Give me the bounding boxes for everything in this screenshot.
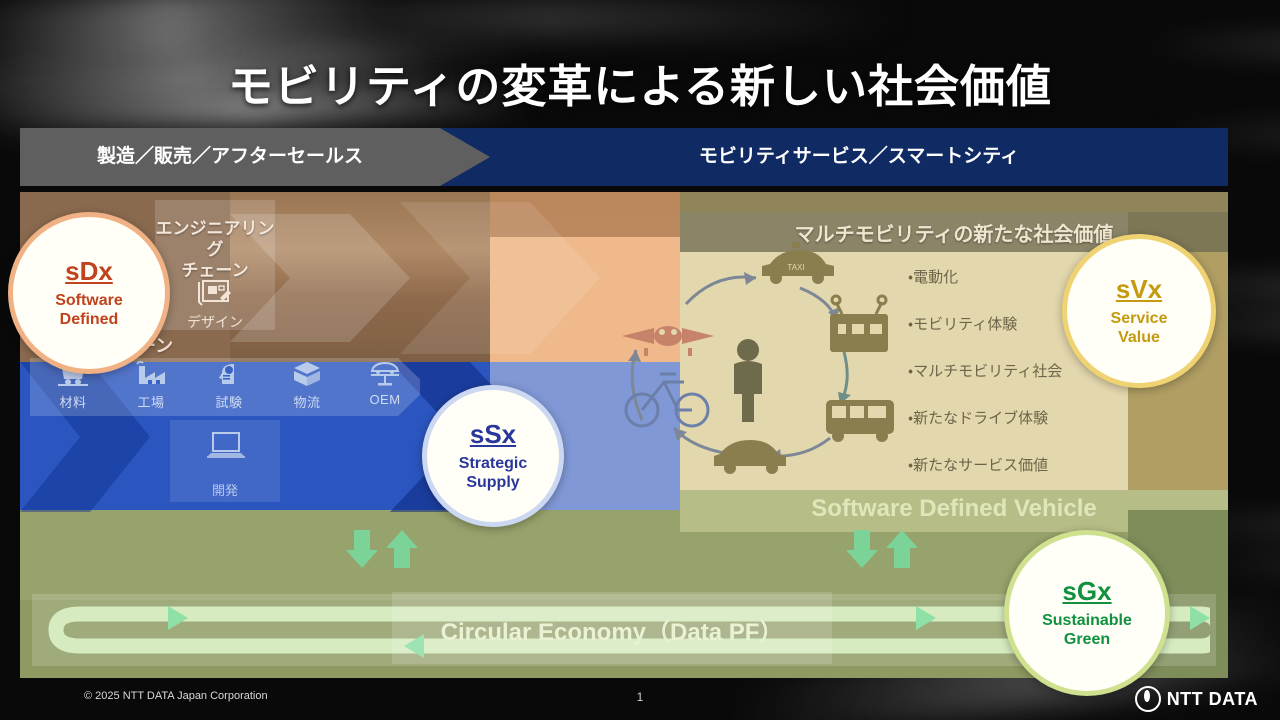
supply-chain-label: 物流	[268, 392, 346, 411]
slide: モビリティの変革による新しい社会価値 製造／販売／アフターセールス モビリティサ…	[0, 0, 1280, 720]
supply-chain-item-factory: 工場	[112, 360, 190, 411]
supply-chain-item-test: 試験	[190, 360, 268, 411]
footer: © 2025 NTT DATA Japan Corporation 1 NTT …	[0, 678, 1280, 720]
supply-chain-label: 材料	[34, 392, 112, 411]
circle-sdx[interactable]: sDx Software Defined	[8, 212, 170, 374]
circle-sdx-code: sDx	[65, 257, 113, 286]
mobility-cycle-diagram: TAXI	[620, 232, 940, 492]
circle-sdx-sub2: Defined	[60, 310, 119, 329]
tram-icon	[830, 296, 888, 352]
blueprint-icon	[198, 278, 232, 308]
supply-chain-label: 工場	[112, 392, 190, 411]
circle-sgx-code: sGx	[1062, 577, 1111, 606]
bus-icon	[826, 400, 894, 442]
list-item: ・新たなドライブ体験	[908, 407, 1138, 428]
package-icon	[268, 360, 346, 390]
circle-ssx-code: sSx	[470, 420, 516, 449]
engineering-chain-item-caption: デザイン	[148, 312, 282, 332]
laptop-icon	[205, 430, 247, 464]
circle-svx-sub1: Service	[1111, 309, 1168, 328]
circle-ssx-sub2: Supply	[466, 473, 519, 492]
exchange-arrows-left-icon	[342, 530, 422, 570]
development-label: 開発	[170, 480, 280, 499]
supply-chain-item-oem: OEM	[346, 360, 424, 407]
banner-label-manufacturing: 製造／販売／アフターセールス	[20, 128, 440, 186]
circular-economy-label: Circular Economy（Data PF）	[392, 612, 832, 647]
circle-sgx-sub2: Green	[1064, 630, 1110, 649]
ntt-data-logo: NTT DATA	[1135, 686, 1258, 712]
supply-chain-label: 試験	[190, 392, 268, 411]
page-number: 1	[0, 690, 1280, 704]
circle-svx-sub2: Value	[1118, 328, 1160, 347]
car-icon	[714, 440, 786, 474]
circle-svx[interactable]: sVx Service Value	[1062, 234, 1216, 388]
svg-text:TAXI: TAXI	[787, 263, 804, 272]
phase-banner: 製造／販売／アフターセールス モビリティサービス／スマートシティ	[20, 128, 1228, 186]
circle-sgx-sub1: Sustainable	[1042, 611, 1132, 630]
engineering-chain-title-l1: エンジニアリング	[156, 219, 275, 259]
bicycle-icon	[626, 374, 708, 426]
circle-svx-code: sVx	[1116, 275, 1162, 304]
page-title: モビリティの変革による新しい社会価値	[0, 50, 1280, 115]
exchange-arrows-right-icon	[842, 530, 922, 570]
circle-ssx[interactable]: sSx Strategic Supply	[422, 385, 564, 527]
circle-sgx[interactable]: sGx Sustainable Green	[1004, 530, 1170, 696]
banner-label-mobility-service: モビリティサービス／スマートシティ	[490, 128, 1228, 186]
list-item: ・新たなサービス価値	[908, 454, 1138, 475]
engineering-chevron-icon	[230, 192, 680, 364]
software-defined-vehicle-label: Software Defined Vehicle	[680, 495, 1228, 523]
circle-sdx-sub1: Software	[55, 291, 123, 310]
test-head-icon	[190, 360, 268, 390]
supply-chain-item-logistics: 物流	[268, 360, 346, 411]
person-icon	[734, 339, 762, 422]
circle-ssx-sub1: Strategic	[459, 454, 527, 473]
ntt-data-wordmark: NTT DATA	[1167, 689, 1258, 710]
engineering-chain-title: エンジニアリング チェーン	[148, 218, 282, 281]
supply-chain-label: OEM	[346, 392, 424, 407]
ntt-data-mark-icon	[1135, 686, 1161, 712]
car-lift-icon	[346, 360, 424, 390]
